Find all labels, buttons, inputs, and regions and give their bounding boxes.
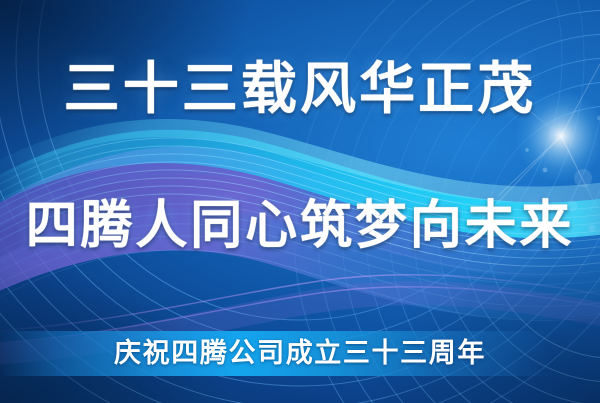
anniversary-poster: 三十三载风华正茂 四腾人同心筑梦向未来 庆祝四腾公司成立三十三周年: [0, 0, 600, 403]
subtitle-text: 庆祝四腾公司成立三十三周年: [114, 333, 486, 373]
headline-line2: 四腾人同心筑梦向未来: [26, 197, 575, 255]
headline-line2-row: 四腾人同心筑梦向未来: [0, 197, 600, 255]
headline-line1: 三十三载风华正茂: [64, 58, 537, 120]
headline-line1-row: 三十三载风华正茂: [0, 58, 600, 120]
subtitle-row: 庆祝四腾公司成立三十三周年: [0, 333, 600, 373]
